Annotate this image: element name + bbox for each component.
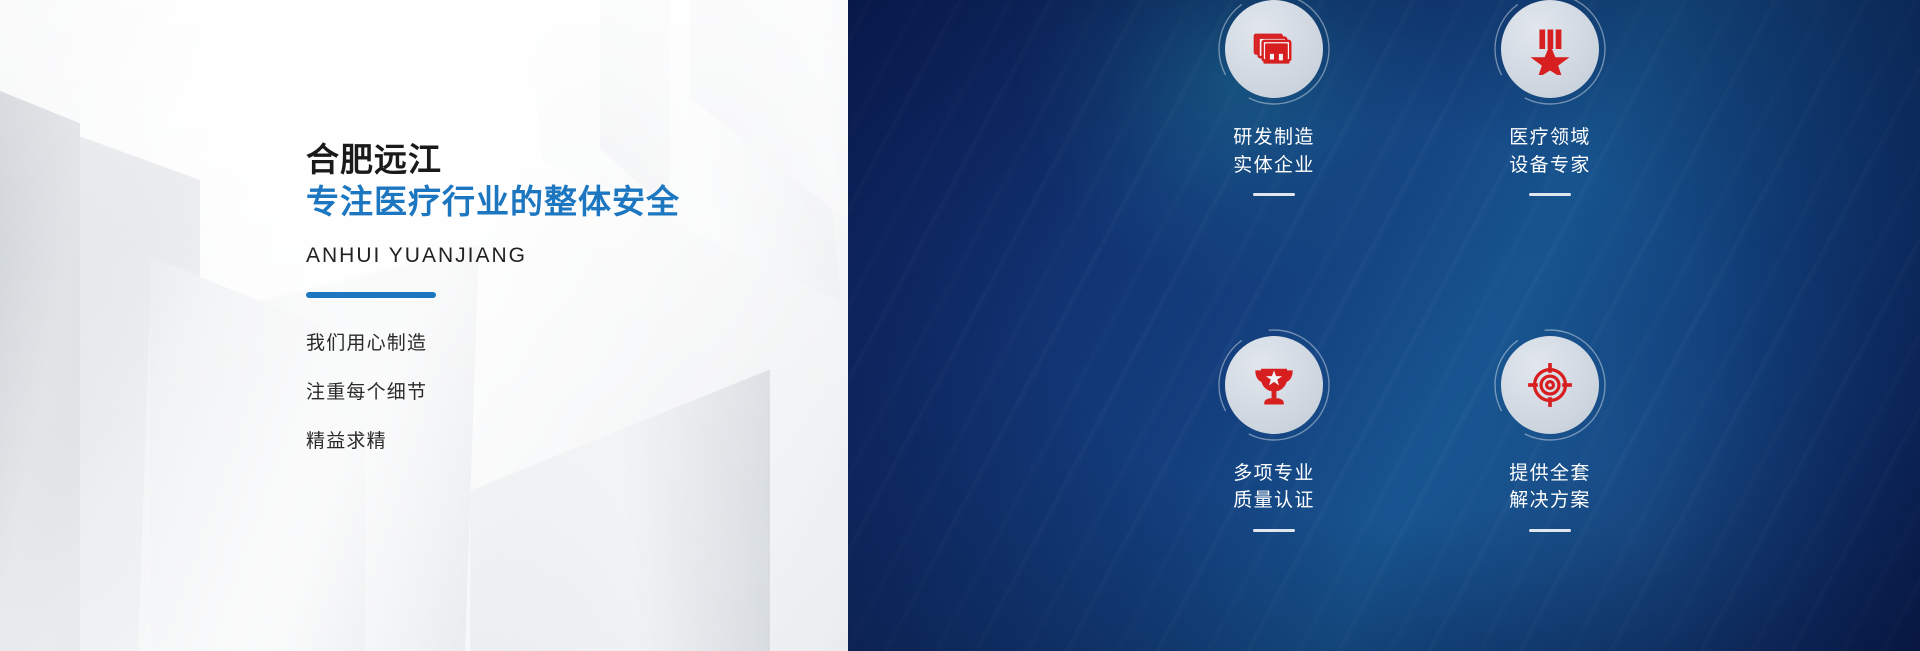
caption-underline	[1253, 193, 1295, 196]
accent-divider	[306, 292, 436, 298]
feature-caption-line2: 解决方案	[1509, 487, 1591, 515]
target-icon	[1524, 359, 1576, 411]
icon-disc	[1501, 0, 1599, 98]
feature-item-certifications[interactable]: 多项专业 质量认证	[1162, 336, 1386, 651]
company-name-pinyin: ANHUI YUANJIANG	[306, 244, 776, 268]
feature-caption-line1: 医疗领域	[1509, 124, 1591, 152]
feature-icon-badge	[1225, 336, 1323, 434]
slogan-line: 精益求精	[306, 432, 776, 451]
caption-underline	[1529, 193, 1571, 196]
company-hero-banner: 合肥远江 专注医疗行业的整体安全 ANHUI YUANJIANG 我们用心制造 …	[0, 0, 1920, 651]
feature-caption-line2: 设备专家	[1509, 152, 1591, 180]
feature-caption-line1: 研发制造	[1233, 124, 1315, 152]
factory-icon	[1248, 23, 1300, 75]
company-tagline-title: 专注医疗行业的整体安全	[306, 181, 776, 223]
icon-disc	[1501, 336, 1599, 434]
slogan-line: 注重每个细节	[306, 383, 776, 402]
feature-caption-line2: 质量认证	[1233, 487, 1315, 515]
feature-caption: 医疗领域 设备专家	[1509, 124, 1591, 179]
trophy-icon	[1248, 359, 1300, 411]
feature-caption: 研发制造 实体企业	[1233, 124, 1315, 179]
feature-caption: 提供全套 解决方案	[1509, 460, 1591, 515]
slogan-line: 我们用心制造	[306, 334, 776, 353]
icon-disc	[1225, 0, 1323, 98]
feature-icon-badge	[1501, 336, 1599, 434]
feature-caption: 多项专业 质量认证	[1233, 460, 1315, 515]
feature-caption-line1: 提供全套	[1509, 460, 1591, 488]
icon-disc	[1225, 336, 1323, 434]
caption-underline	[1529, 529, 1571, 532]
slogan-list: 我们用心制造 注重每个细节 精益求精	[306, 334, 776, 451]
feature-item-solutions[interactable]: 提供全套 解决方案	[1438, 336, 1662, 651]
right-feature-panel: 研发制造 实体企业	[848, 0, 1920, 651]
feature-caption-line1: 多项专业	[1233, 460, 1315, 488]
feature-icon-badge	[1501, 0, 1599, 98]
feature-caption-line2: 实体企业	[1233, 152, 1315, 180]
caption-underline	[1253, 529, 1295, 532]
feature-item-medical-expert[interactable]: 医疗领域 设备专家	[1438, 0, 1662, 316]
feature-grid: 研发制造 实体企业	[848, 0, 1920, 651]
feature-icon-badge	[1225, 0, 1323, 98]
left-photo-panel: 合肥远江 专注医疗行业的整体安全 ANHUI YUANJIANG 我们用心制造 …	[0, 0, 848, 651]
feature-item-manufacturing[interactable]: 研发制造 实体企业	[1162, 0, 1386, 316]
medal-icon	[1524, 23, 1576, 75]
headline-block: 合肥远江 专注医疗行业的整体安全 ANHUI YUANJIANG 我们用心制造 …	[306, 139, 776, 451]
company-name-title: 合肥远江	[306, 139, 776, 181]
